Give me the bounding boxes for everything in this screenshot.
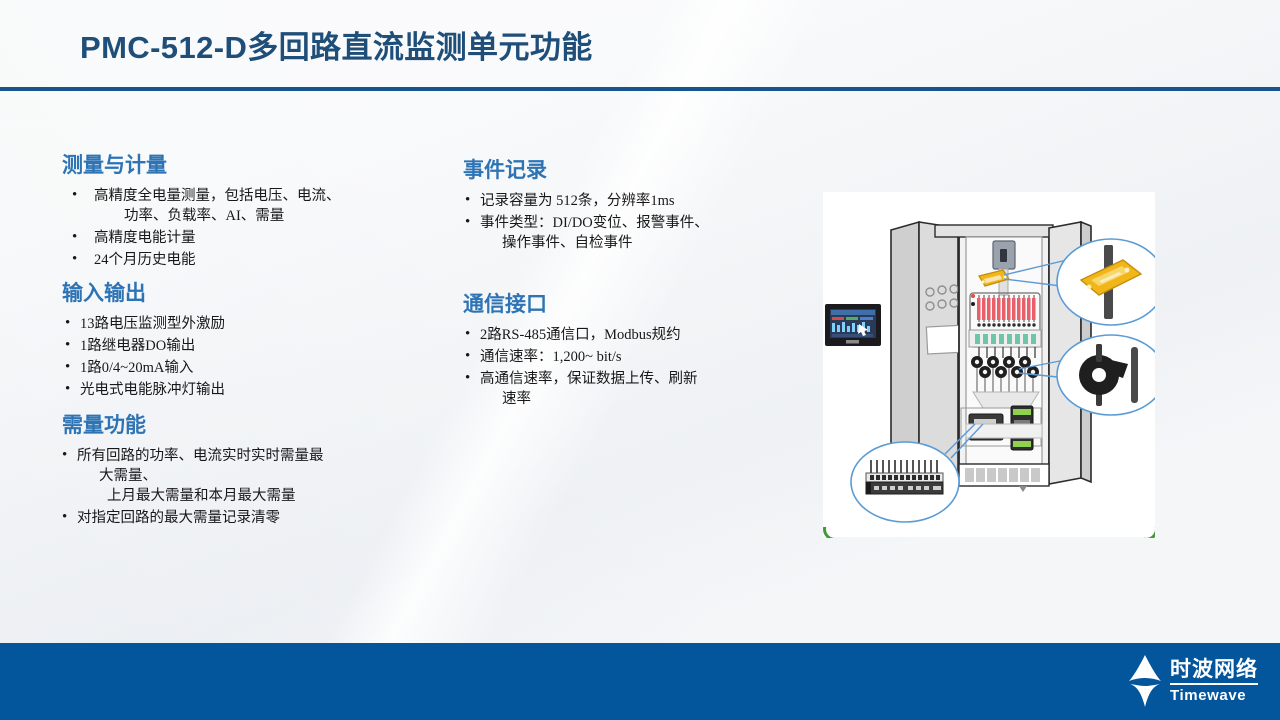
bullet-text: 所有回路的功率、电流实时实时需量最: [77, 448, 324, 464]
cabinet-illustration: [823, 192, 1155, 537]
list-item: 2路RS-485通信口，Modbus规约: [463, 325, 808, 345]
bullet-text: 2路RS-485通信口，Modbus规约: [480, 327, 681, 343]
section-heading: 需量功能: [62, 410, 462, 440]
bullet-text: 1路0/4~20mA输入: [80, 360, 193, 376]
bullet-continuation: 大需量、: [77, 466, 462, 486]
section-heading: 通信接口: [463, 289, 808, 319]
bullet-continuation: 功率、负载率、AI、需量: [94, 206, 462, 226]
left-content-column: 测量与计量 高精度全电量测量，包括电压、电流、 功率、负载率、AI、需量 高精度…: [62, 150, 462, 532]
terminal-strip: [969, 330, 1041, 347]
bullet-text: 光电式电能脉冲灯输出: [80, 382, 225, 398]
section-communication: 通信接口 2路RS-485通信口，Modbus规约 通信速率：1,200~ bi…: [463, 289, 808, 409]
section-input-output: 输入输出 13路电压监测型外激励 1路继电器DO输出 1路0/4~20mA输入 …: [62, 278, 462, 400]
page-title: PMC-512-D多回路直流监测单元功能: [80, 22, 593, 67]
list-item: 对指定回路的最大需量记录清零: [62, 508, 462, 528]
section-heading: 输入输出: [62, 278, 462, 308]
bullet-continuation: 操作事件、自检事件: [480, 233, 808, 253]
bullet-text: 24个月历史电能: [94, 252, 196, 268]
bullet-list: 13路电压监测型外激励 1路继电器DO输出 1路0/4~20mA输入 光电式电能…: [62, 314, 462, 400]
bullet-continuation: 速率: [480, 389, 808, 409]
bullet-list: 高精度全电量测量，包括电压、电流、 功率、负载率、AI、需量 高精度电能计量 2…: [62, 186, 462, 270]
list-item: 光电式电能脉冲灯输出: [62, 380, 462, 400]
bullet-text: 13路电压监测型外激励: [80, 316, 225, 332]
list-item: 记录容量为 512条，分辨率1ms: [463, 191, 808, 211]
bullet-text: 通信速率：1,200~ bit/s: [480, 349, 622, 365]
list-item: 13路电压监测型外激励: [62, 314, 462, 334]
image-corner-mark: [1144, 527, 1155, 538]
section-measurement: 测量与计量 高精度全电量测量，包括电压、电流、 功率、负载率、AI、需量 高精度…: [62, 150, 462, 270]
bullet-text: 高精度电能计量: [94, 230, 196, 246]
cable-duct: [966, 424, 1042, 438]
bullet-list: 所有回路的功率、电流实时实时需量最 大需量、 上月最大需量和本月最大需量 对指定…: [62, 446, 462, 528]
logo-chinese-name: 时波网络: [1170, 659, 1258, 685]
list-item: 高精度全电量测量，包括电压、电流、 功率、负载率、AI、需量: [62, 186, 462, 226]
bullet-text: 记录容量为 512条，分辨率1ms: [480, 193, 675, 209]
list-item: 高精度电能计量: [62, 228, 462, 248]
callout-terminal-block: [851, 442, 959, 522]
image-corner-mark: [823, 527, 834, 538]
list-item: 通信速率：1,200~ bit/s: [463, 347, 808, 367]
cabinet-diagram-svg: [823, 192, 1155, 537]
logo-text: 时波网络 Timewave: [1170, 659, 1258, 703]
section-heading: 测量与计量: [62, 150, 462, 180]
middle-content-column: 事件记录 记录容量为 512条，分辨率1ms 事件类型：DI/DO变位、报警事件…: [463, 155, 808, 413]
list-item: 24个月历史电能: [62, 250, 462, 270]
slide-footer: 时波网络 Timewave: [0, 643, 1280, 720]
list-item: 1路继电器DO输出: [62, 336, 462, 356]
hmi-panel-icon: [825, 304, 881, 346]
logo-english-name: Timewave: [1170, 685, 1258, 703]
bullet-list: 记录容量为 512条，分辨率1ms 事件类型：DI/DO变位、报警事件、 操作事…: [463, 191, 808, 253]
callout-yellow-clamp-ct: [1057, 239, 1155, 325]
list-item: 高通信速率，保证数据上传、刷新 速率: [463, 369, 808, 409]
timewave-logo-mark: [1127, 653, 1163, 709]
vent-grille: [959, 464, 1049, 492]
section-heading: 事件记录: [463, 155, 808, 185]
bullet-continuation: 上月最大需量和本月最大需量: [77, 486, 462, 506]
callout-split-core-ct: [1057, 335, 1155, 415]
slide-header: PMC-512-D多回路直流监测单元功能: [0, 0, 1280, 90]
list-item: 所有回路的功率、电流实时实时需量最 大需量、 上月最大需量和本月最大需量: [62, 446, 462, 506]
company-logo: 时波网络 Timewave: [1127, 653, 1258, 709]
list-item: 1路0/4~20mA输入: [62, 358, 462, 378]
header-divider: [0, 87, 1280, 91]
section-event-log: 事件记录 记录容量为 512条，分辨率1ms 事件类型：DI/DO变位、报警事件…: [463, 155, 808, 253]
bullet-text: 高精度全电量测量，包括电压、电流、: [94, 188, 341, 204]
bullet-text: 对指定回路的最大需量记录清零: [77, 510, 280, 526]
section-demand: 需量功能 所有回路的功率、电流实时实时需量最 大需量、 上月最大需量和本月最大需…: [62, 410, 462, 528]
bullet-text: 高通信速率，保证数据上传、刷新: [480, 371, 698, 387]
bullet-list: 2路RS-485通信口，Modbus规约 通信速率：1,200~ bit/s 高…: [463, 325, 808, 409]
bullet-text: 事件类型：DI/DO变位、报警事件、: [480, 215, 709, 231]
bullet-text: 1路继电器DO输出: [80, 338, 195, 354]
list-item: 事件类型：DI/DO变位、报警事件、 操作事件、自检事件: [463, 213, 808, 253]
